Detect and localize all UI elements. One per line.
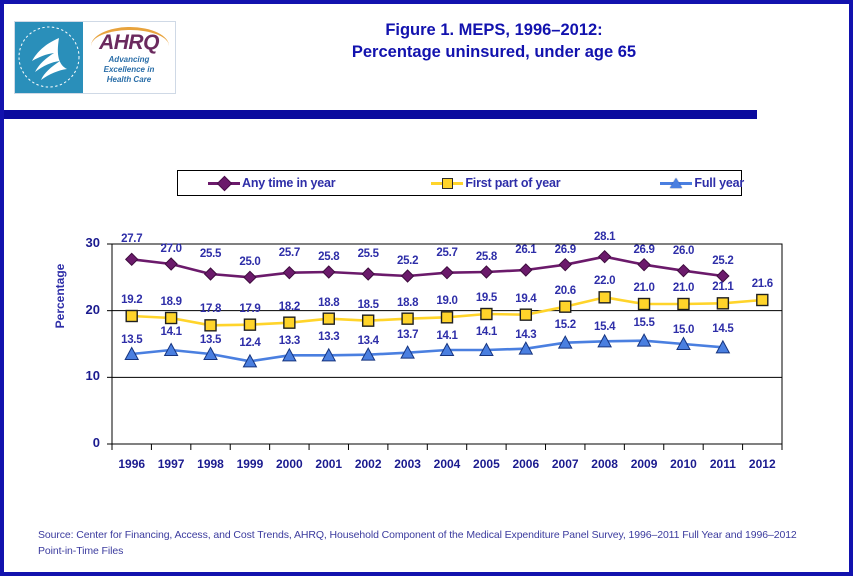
data-point-label: 13.3 xyxy=(272,335,306,347)
data-point-label: 20.6 xyxy=(548,285,582,297)
data-point-label: 12.4 xyxy=(233,337,267,349)
x-axis-tick-label: 2007 xyxy=(544,457,586,471)
data-point-label: 15.5 xyxy=(627,317,661,329)
x-axis-tick-label: 2010 xyxy=(662,457,704,471)
data-point-label: 21.6 xyxy=(745,278,779,290)
y-axis-tick-label: 30 xyxy=(66,235,100,250)
x-axis-tick-label: 2011 xyxy=(702,457,744,471)
data-point-label: 25.8 xyxy=(312,251,346,263)
data-point-label: 21.0 xyxy=(627,282,661,294)
x-axis-tick-label: 2008 xyxy=(584,457,626,471)
data-point-label: 26.1 xyxy=(509,244,543,256)
data-point-label: 26.9 xyxy=(548,244,582,256)
x-axis-tick-label: 2000 xyxy=(268,457,310,471)
x-axis-tick-label: 1996 xyxy=(111,457,153,471)
x-axis-tick-label: 2002 xyxy=(347,457,389,471)
data-point-label: 19.4 xyxy=(509,293,543,305)
data-point-label: 14.5 xyxy=(706,323,740,335)
source-note: Source: Center for Financing, Access, an… xyxy=(38,528,808,560)
data-point-label: 18.2 xyxy=(272,301,306,313)
data-point-label: 15.0 xyxy=(666,324,700,336)
data-point-label: 25.7 xyxy=(272,247,306,259)
y-axis-tick-label: 0 xyxy=(66,435,100,450)
data-point-label: 17.8 xyxy=(194,303,228,315)
data-point-label: 25.5 xyxy=(194,248,228,260)
data-point-label: 18.9 xyxy=(154,296,188,308)
data-point-label: 14.1 xyxy=(469,326,503,338)
data-point-label: 13.3 xyxy=(312,331,346,343)
data-point-label: 25.5 xyxy=(351,248,385,260)
y-axis-tick-label: 10 xyxy=(66,368,100,383)
y-axis-tick-label: 20 xyxy=(66,302,100,317)
data-point-label: 14.1 xyxy=(430,330,464,342)
data-point-label: 15.2 xyxy=(548,319,582,331)
data-point-label: 25.2 xyxy=(706,255,740,267)
x-axis-tick-label: 2004 xyxy=(426,457,468,471)
x-axis-tick-label: 2009 xyxy=(623,457,665,471)
data-point-label: 26.0 xyxy=(666,245,700,257)
data-point-label: 21.1 xyxy=(706,281,740,293)
data-point-label: 18.8 xyxy=(312,297,346,309)
data-point-label: 21.0 xyxy=(666,282,700,294)
data-point-label: 19.0 xyxy=(430,295,464,307)
data-point-label: 18.8 xyxy=(391,297,425,309)
data-point-label: 25.8 xyxy=(469,251,503,263)
data-point-label: 13.5 xyxy=(194,334,228,346)
data-point-label: 14.3 xyxy=(509,329,543,341)
data-point-label: 13.5 xyxy=(115,334,149,346)
figure-page: AHRQ Advancing Excellence in Health Care… xyxy=(0,0,853,576)
x-axis-tick-label: 1997 xyxy=(150,457,192,471)
data-point-label: 13.7 xyxy=(391,329,425,341)
data-point-label: 19.5 xyxy=(469,292,503,304)
data-point-label: 27.0 xyxy=(154,243,188,255)
data-point-label: 13.4 xyxy=(351,335,385,347)
data-point-label: 19.2 xyxy=(115,294,149,306)
data-point-label: 28.1 xyxy=(588,231,622,243)
data-point-label: 26.9 xyxy=(627,244,661,256)
x-axis-tick-label: 1998 xyxy=(190,457,232,471)
data-point-label: 25.2 xyxy=(391,255,425,267)
data-point-label: 18.5 xyxy=(351,299,385,311)
x-axis-tick-label: 2005 xyxy=(465,457,507,471)
x-axis-tick-label: 2001 xyxy=(308,457,350,471)
data-point-label: 15.4 xyxy=(588,321,622,333)
x-axis-tick-label: 1999 xyxy=(229,457,271,471)
data-point-label: 27.7 xyxy=(115,233,149,245)
data-point-label: 17.9 xyxy=(233,303,267,315)
data-point-label: 25.0 xyxy=(233,256,267,268)
line-chart: Percentage 01020301996199719981999200020… xyxy=(4,4,849,572)
x-axis-tick-label: 2006 xyxy=(505,457,547,471)
x-axis-tick-label: 2003 xyxy=(387,457,429,471)
data-point-label: 25.7 xyxy=(430,247,464,259)
data-point-label: 22.0 xyxy=(588,275,622,287)
x-axis-tick-label: 2012 xyxy=(741,457,783,471)
data-point-label: 14.1 xyxy=(154,326,188,338)
